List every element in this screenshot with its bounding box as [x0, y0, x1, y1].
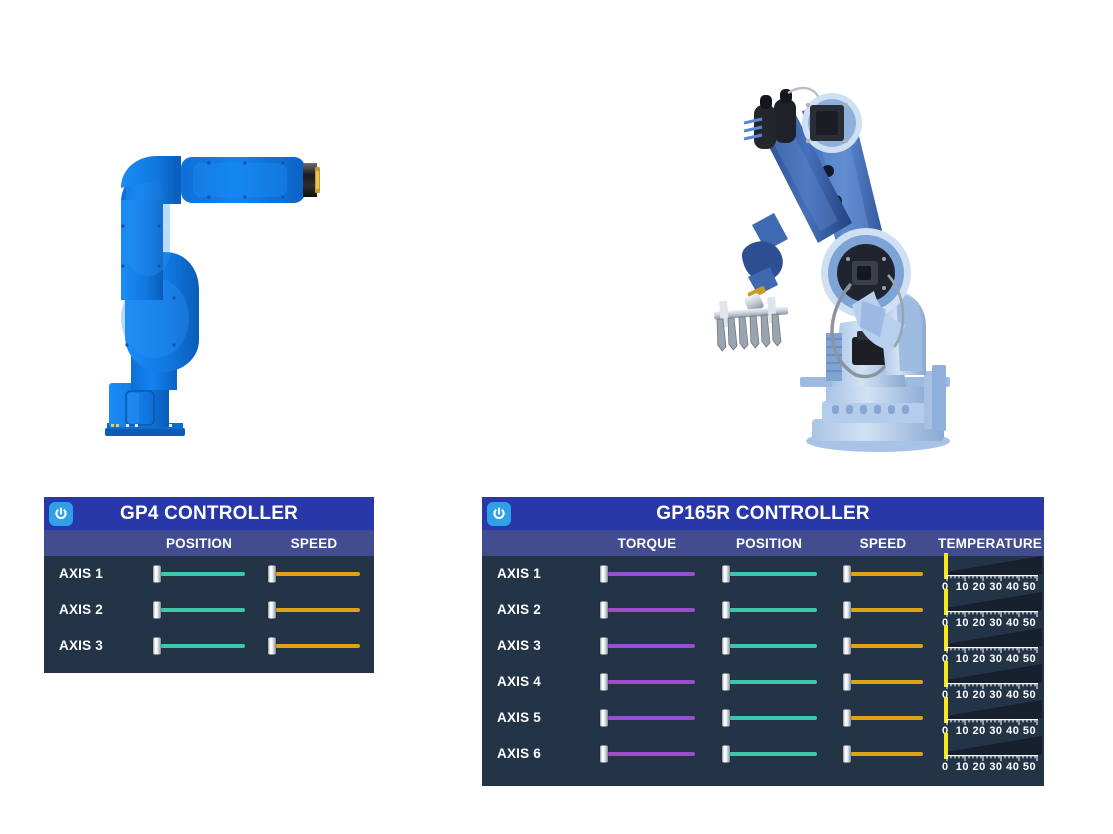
slider-handle[interactable]: [153, 638, 161, 655]
slider-speed-axis-1[interactable]: [268, 572, 360, 576]
slider-handle[interactable]: [600, 746, 608, 763]
slider-handle[interactable]: [843, 710, 851, 727]
slider-position-axis-2[interactable]: [722, 608, 817, 612]
power-glyph: [53, 506, 69, 522]
temperature-wedge: [946, 734, 1042, 755]
slider-handle[interactable]: [843, 638, 851, 655]
temperature-wedge: [946, 554, 1042, 575]
slider-handle[interactable]: [153, 602, 161, 619]
temperature-scale-labels: 0 10 20 30 40 50: [942, 761, 1036, 773]
slider-handle[interactable]: [722, 566, 730, 583]
gp4-rows: AXIS 1 AXIS 2: [44, 556, 374, 664]
slider-handle[interactable]: [600, 638, 608, 655]
slider-handle[interactable]: [843, 602, 851, 619]
slider-speed-axis-1[interactable]: [843, 572, 923, 576]
slider-speed-axis-6[interactable]: [843, 752, 923, 756]
table-row: AXIS 1: [44, 556, 374, 592]
slider-torque-axis-3[interactable]: [600, 644, 695, 648]
gp165r-controller-panel: GP165R CONTROLLER TORQUE POSITION SPEED …: [482, 497, 1044, 786]
temperature-gauge-axis-4[interactable]: 0 10 20 30 40 50: [938, 662, 1042, 702]
axis-label: AXIS 2: [59, 602, 103, 617]
gp165r-column-headers: TORQUE POSITION SPEED TEMPERATURE: [482, 530, 1044, 556]
column-header-speed: SPEED: [254, 536, 374, 551]
gp4-robot-svg: [95, 140, 340, 450]
slider-handle[interactable]: [722, 674, 730, 691]
slider-handle[interactable]: [722, 710, 730, 727]
table-row: AXIS 5: [482, 700, 1044, 736]
table-row: AXIS 3: [44, 628, 374, 664]
slider-torque-axis-6[interactable]: [600, 752, 695, 756]
table-row: AXIS 2: [44, 592, 374, 628]
power-icon[interactable]: [487, 502, 511, 526]
slider-handle[interactable]: [153, 566, 161, 583]
slider-handle[interactable]: [600, 602, 608, 619]
slider-handle[interactable]: [600, 710, 608, 727]
axis-label: AXIS 2: [497, 602, 541, 617]
gp165r-panel-title-bar: GP165R CONTROLLER: [482, 497, 1044, 530]
temperature-gauge-axis-3[interactable]: 0 10 20 30 40 50: [938, 626, 1042, 666]
gp4-column-headers: POSITION SPEED: [44, 530, 374, 556]
temperature-wedge: [946, 698, 1042, 719]
table-row: AXIS 6: [482, 736, 1044, 772]
slider-torque-axis-5[interactable]: [600, 716, 695, 720]
axis-label: AXIS 3: [497, 638, 541, 653]
slider-position-axis-6[interactable]: [722, 752, 817, 756]
slider-handle[interactable]: [843, 674, 851, 691]
slider-speed-axis-4[interactable]: [843, 680, 923, 684]
column-header-position: POSITION: [708, 536, 830, 551]
gp4-robot-illustration: [95, 140, 340, 450]
gp165r-panel-title: GP165R CONTROLLER: [482, 503, 1044, 525]
axis-label: AXIS 4: [497, 674, 541, 689]
gp4-controller-panel: GP4 CONTROLLER POSITION SPEED AXIS 1: [44, 497, 374, 673]
column-header-torque: TORQUE: [586, 536, 708, 551]
table-row: AXIS 3: [482, 628, 1044, 664]
slider-handle[interactable]: [600, 674, 608, 691]
gp165r-robot-svg: [700, 75, 970, 455]
table-row: AXIS 1: [482, 556, 1044, 592]
slider-handle[interactable]: [722, 602, 730, 619]
slider-torque-axis-4[interactable]: [600, 680, 695, 684]
slider-position-axis-2[interactable]: [153, 608, 245, 612]
slider-speed-axis-5[interactable]: [843, 716, 923, 720]
temperature-gauge-axis-6[interactable]: 0 10 20 30 40 50: [938, 734, 1042, 774]
temperature-wedge: [946, 590, 1042, 611]
temperature-wedge: [946, 626, 1042, 647]
slider-position-axis-3[interactable]: [722, 644, 817, 648]
temperature-wedge: [946, 662, 1042, 683]
table-row: AXIS 4: [482, 664, 1044, 700]
slider-position-axis-5[interactable]: [722, 716, 817, 720]
slider-speed-axis-2[interactable]: [268, 608, 360, 612]
column-header-temperature: TEMPERATURE: [936, 536, 1044, 551]
slider-speed-axis-3[interactable]: [843, 644, 923, 648]
slider-position-axis-1[interactable]: [722, 572, 817, 576]
column-header-speed: SPEED: [830, 536, 936, 551]
temperature-gauge-axis-1[interactable]: 0 10 20 30 40 50: [938, 554, 1042, 594]
gp165r-robot-illustration: [700, 75, 970, 455]
axis-label: AXIS 5: [497, 710, 541, 725]
axis-label: AXIS 1: [59, 566, 103, 581]
slider-position-axis-4[interactable]: [722, 680, 817, 684]
temperature-gauge-axis-2[interactable]: 0 10 20 30 40 50: [938, 590, 1042, 630]
gp4-panel-title-bar: GP4 CONTROLLER: [44, 497, 374, 530]
slider-handle[interactable]: [843, 746, 851, 763]
slider-handle[interactable]: [600, 566, 608, 583]
slider-speed-axis-2[interactable]: [843, 608, 923, 612]
slider-handle[interactable]: [268, 602, 276, 619]
slider-torque-axis-1[interactable]: [600, 572, 695, 576]
slider-speed-axis-3[interactable]: [268, 644, 360, 648]
slider-handle[interactable]: [268, 638, 276, 655]
axis-label: AXIS 1: [497, 566, 541, 581]
slider-handle[interactable]: [722, 638, 730, 655]
slider-torque-axis-2[interactable]: [600, 608, 695, 612]
slider-handle[interactable]: [268, 566, 276, 583]
slider-handle[interactable]: [722, 746, 730, 763]
slider-position-axis-3[interactable]: [153, 644, 245, 648]
column-header-position: POSITION: [144, 536, 254, 551]
power-glyph: [491, 506, 507, 522]
slider-position-axis-1[interactable]: [153, 572, 245, 576]
table-row: AXIS 2: [482, 592, 1044, 628]
axis-label: AXIS 3: [59, 638, 103, 653]
slider-handle[interactable]: [843, 566, 851, 583]
axis-label: AXIS 6: [497, 746, 541, 761]
gp165r-rows: AXIS 1: [482, 556, 1044, 772]
gp4-panel-title: GP4 CONTROLLER: [44, 503, 374, 525]
canvas: GP4 CONTROLLER POSITION SPEED AXIS 1: [0, 0, 1113, 834]
temperature-gauge-axis-5[interactable]: 0 10 20 30 40 50: [938, 698, 1042, 738]
power-icon[interactable]: [49, 502, 73, 526]
